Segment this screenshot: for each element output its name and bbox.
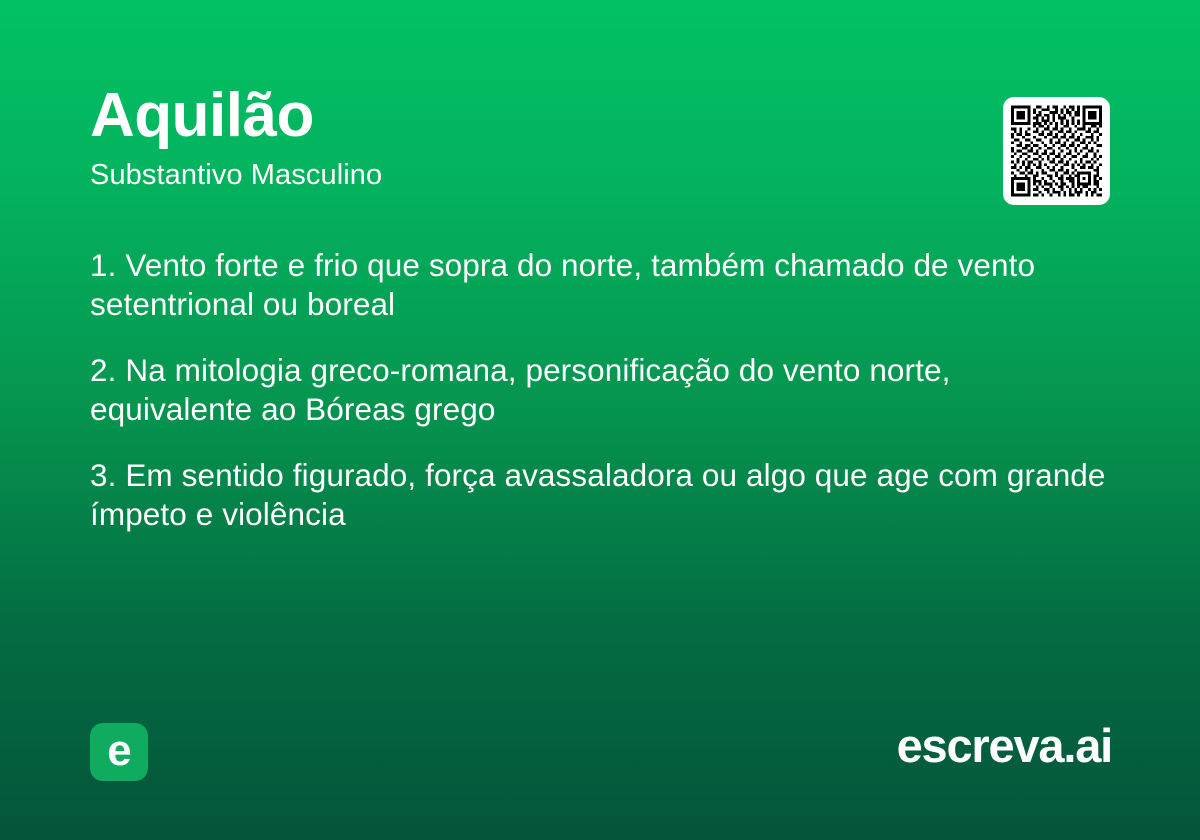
escreva-logo-badge[interactable]: e bbox=[90, 723, 148, 781]
dictionary-card: Aquilão Substantivo Masculino bbox=[0, 0, 1200, 840]
page-title: Aquilão bbox=[90, 84, 1110, 147]
qr-code-icon bbox=[1011, 105, 1102, 197]
definition-item: 1. Vento forte e frio que sopra do norte… bbox=[90, 246, 1110, 324]
qr-code[interactable] bbox=[1003, 97, 1110, 205]
definition-item: 2. Na mitologia greco-romana, personific… bbox=[90, 351, 1110, 429]
card-header: Aquilão Substantivo Masculino bbox=[90, 84, 1110, 193]
definitions-list: 1. Vento forte e frio que sopra do norte… bbox=[90, 246, 1110, 534]
logo-letter-e-icon: e bbox=[107, 729, 130, 773]
definition-item: 3. Em sentido figurado, força avassalado… bbox=[90, 456, 1110, 534]
word-class-label: Substantivo Masculino bbox=[90, 158, 1110, 193]
brand-wordmark: escreva.ai bbox=[897, 722, 1112, 769]
